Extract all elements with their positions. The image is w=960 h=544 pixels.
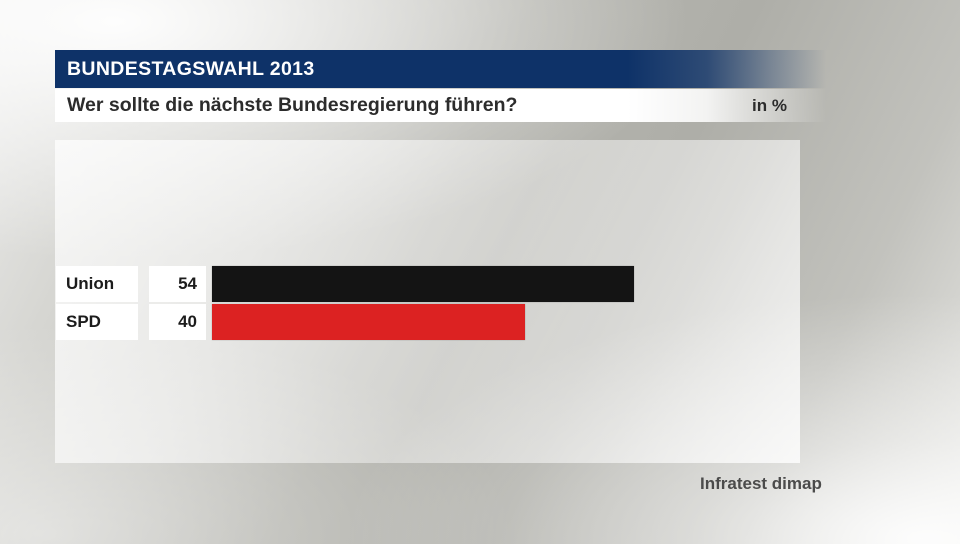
- bar-value: 40: [178, 312, 197, 332]
- bar-fill-spd: [212, 304, 525, 340]
- question-text: Wer sollte die nächste Bundesregierung f…: [55, 94, 517, 117]
- bar-list: Union 54 SPD 40: [55, 266, 800, 342]
- bar-row: SPD 40: [55, 304, 800, 340]
- bar-label: SPD: [66, 312, 101, 332]
- bar-value: 54: [178, 274, 197, 294]
- bar-label: Union: [66, 274, 114, 294]
- bar-label-cell: SPD: [56, 304, 138, 340]
- bar-row: Union 54: [55, 266, 800, 302]
- bar-label-cell: Union: [56, 266, 138, 302]
- bar-value-cell: 40: [149, 304, 206, 340]
- poll-graphic: BUNDESTAGSWAHL 2013 Wer sollte die nächs…: [0, 0, 960, 544]
- title-bar: BUNDESTAGSWAHL 2013: [55, 50, 850, 88]
- bar-value-cell: 54: [149, 266, 206, 302]
- bar-fill-union: [212, 266, 634, 302]
- chart-panel: Union 54 SPD 40: [55, 140, 800, 463]
- bar-track: [212, 304, 800, 340]
- source-credit: Infratest dimap: [700, 474, 822, 494]
- bar-track: [212, 266, 800, 302]
- page-title: BUNDESTAGSWAHL 2013: [55, 58, 315, 81]
- subtitle-bar: Wer sollte die nächste Bundesregierung f…: [55, 89, 850, 122]
- unit-label: in %: [752, 96, 850, 116]
